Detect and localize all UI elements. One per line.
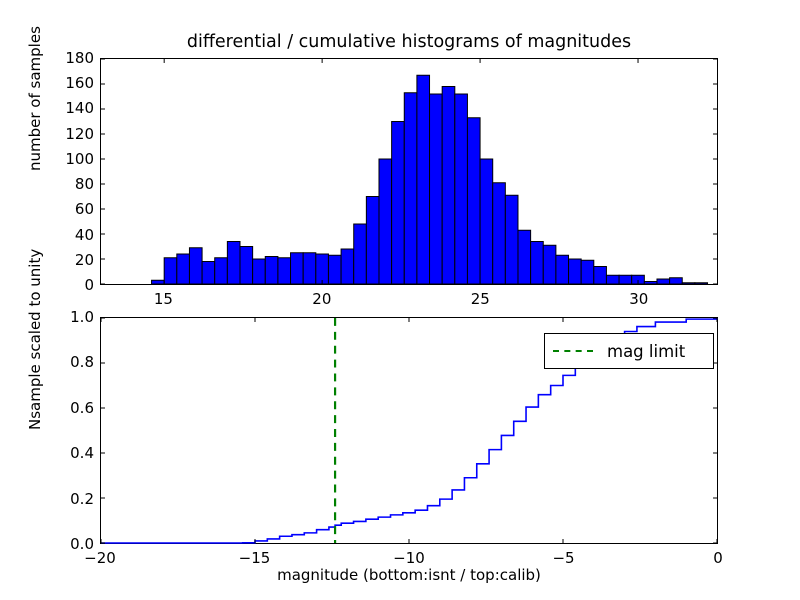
- histogram-bar: [354, 224, 367, 284]
- histogram-bar: [177, 254, 190, 284]
- histogram-bar: [518, 230, 531, 284]
- histogram-bar: [569, 259, 582, 284]
- histogram-bar: [480, 159, 493, 284]
- histogram-bar: [278, 258, 291, 284]
- bottom-plot-y-axis-label: Nsample scaled to unity: [26, 249, 44, 430]
- bottom-xtick-1: −15: [239, 549, 271, 567]
- top-ytick-120: 120: [65, 125, 94, 143]
- legend-label-mag-limit: mag limit: [607, 342, 685, 361]
- histogram-bar: [430, 94, 443, 284]
- bottom-plot-x-axis-label: magnitude (bottom:isnt / top:calib): [100, 566, 718, 584]
- histogram-bar: [164, 258, 177, 284]
- histogram-bar: [215, 258, 228, 284]
- bottom-ytick-3: 0.6: [70, 399, 94, 417]
- histogram-bar: [240, 247, 253, 284]
- top-ytick-140: 140: [65, 99, 94, 117]
- histogram-bar: [404, 93, 417, 284]
- legend-dashed-line-icon: [553, 350, 593, 352]
- top-ytick-60: 60: [75, 200, 94, 218]
- bottom-ytick-0: 0.0: [70, 535, 94, 553]
- top-ytick-40: 40: [75, 226, 94, 244]
- top-ytick-180: 180: [65, 49, 94, 67]
- top-xtick-25: 25: [471, 290, 490, 308]
- histogram-bar: [316, 254, 329, 284]
- histogram-bar: [152, 280, 165, 284]
- histogram-bar: [670, 278, 683, 284]
- top-plot-y-axis-label: number of samples: [26, 26, 44, 171]
- histogram-bar: [619, 275, 632, 284]
- histogram-bar: [202, 262, 215, 285]
- histogram-bar: [644, 282, 657, 284]
- histogram-bar: [328, 255, 341, 284]
- histogram-bar: [379, 159, 392, 284]
- bottom-ytick-5: 1.0: [70, 308, 94, 326]
- histogram-bar: [417, 75, 430, 284]
- bottom-ytick-4: 0.8: [70, 353, 94, 371]
- histogram-bar: [455, 94, 468, 284]
- histogram-bar: [606, 275, 619, 284]
- bottom-xtick-3: −5: [552, 549, 574, 567]
- differential-histogram-axes: [100, 58, 718, 285]
- histogram-bar: [442, 86, 455, 284]
- histogram-bar: [531, 241, 544, 284]
- histogram-bar: [581, 260, 594, 284]
- top-ytick-0: 0: [84, 276, 94, 294]
- histogram-bar: [392, 122, 405, 284]
- top-ytick-20: 20: [75, 251, 94, 269]
- histogram-bar: [291, 253, 304, 284]
- top-xtick-15: 15: [154, 290, 173, 308]
- bottom-ytick-1: 0.2: [70, 490, 94, 508]
- bottom-xtick-2: −10: [393, 549, 425, 567]
- differential-histogram-canvas: [101, 59, 717, 284]
- histogram-bar: [341, 249, 354, 284]
- histogram-bar: [682, 283, 695, 284]
- histogram-bar: [253, 259, 266, 284]
- histogram-bar: [543, 245, 556, 284]
- bottom-ytick-2: 0.4: [70, 444, 94, 462]
- histogram-bar: [505, 195, 518, 284]
- histogram-bar: [265, 257, 278, 284]
- top-xtick-20: 20: [312, 290, 331, 308]
- histogram-bar: [366, 196, 379, 284]
- figure-title: differential / cumulative histograms of …: [100, 31, 718, 53]
- top-ytick-160: 160: [65, 74, 94, 92]
- bottom-xtick-4: 0: [713, 549, 723, 567]
- matplotlib-figure: differential / cumulative histograms of …: [0, 0, 800, 600]
- histogram-bar: [189, 248, 202, 284]
- top-ytick-100: 100: [65, 150, 94, 168]
- cumulative-histogram-axes: mag limit: [100, 317, 718, 544]
- legend[interactable]: mag limit: [544, 333, 714, 369]
- histogram-bar: [556, 255, 569, 284]
- top-ytick-80: 80: [75, 175, 94, 193]
- histogram-bar: [657, 279, 670, 284]
- histogram-bar: [467, 118, 480, 284]
- histogram-bar: [303, 253, 316, 284]
- histogram-bar: [493, 183, 506, 284]
- top-xtick-30: 30: [629, 290, 648, 308]
- histogram-bar: [227, 241, 240, 284]
- histogram-bar: [695, 283, 708, 284]
- histogram-bar: [594, 266, 607, 284]
